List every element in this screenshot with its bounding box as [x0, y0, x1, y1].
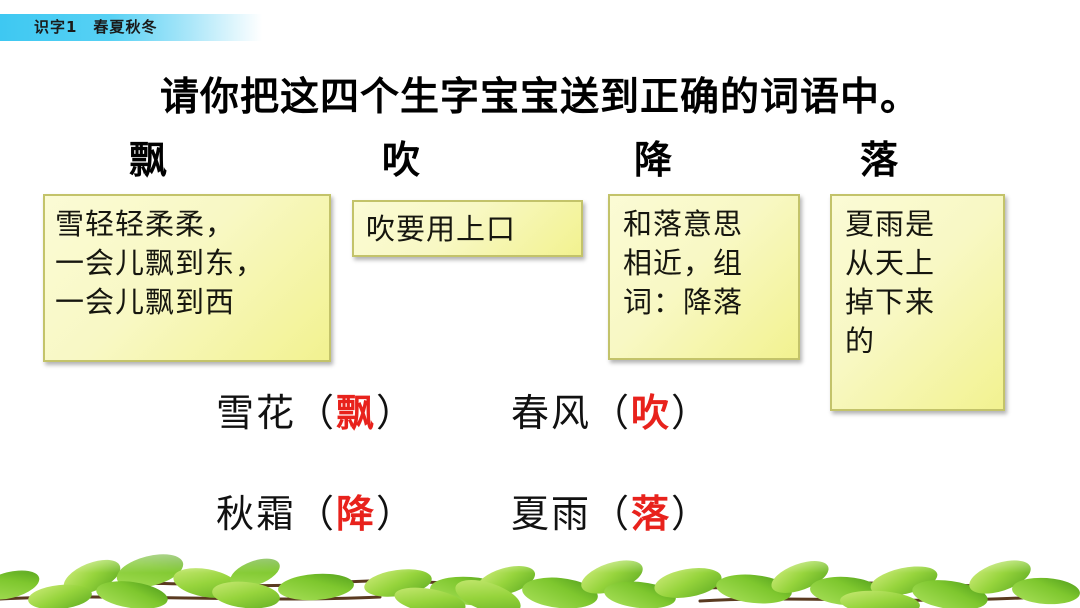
- answer-word: 夏雨: [511, 492, 591, 536]
- hint-box-luo: 夏雨是 从天上 掉下来 的: [830, 194, 1005, 411]
- answer-word: 雪花: [216, 391, 296, 435]
- answer-paren-open: （: [296, 391, 336, 435]
- answer-paren-open: （: [296, 492, 336, 536]
- hint-line: 从天上: [845, 244, 1003, 283]
- hint-line: 一会儿飘到东，: [55, 244, 329, 283]
- answer-paren-open: （: [591, 492, 631, 536]
- answer-paren-close: ）: [376, 391, 416, 435]
- answer-paren-open: （: [591, 391, 631, 435]
- answer-item-chunfeng: 春风（吹）: [511, 382, 711, 437]
- answer-blank-filled[interactable]: 落: [631, 491, 671, 536]
- hint-line: 的: [845, 322, 1003, 361]
- answer-blank-filled[interactable]: 降: [336, 491, 376, 536]
- answer-item-qiushuang: 秋霜（降）: [216, 483, 416, 538]
- answer-paren-close: ）: [671, 391, 711, 435]
- leaves-decoration: [0, 533, 1080, 608]
- answer-word: 秋霜: [216, 492, 296, 536]
- target-character-jiang[interactable]: 降: [634, 141, 672, 179]
- answer-blank-filled[interactable]: 吹: [631, 390, 671, 435]
- answer-paren-close: ）: [376, 492, 416, 536]
- hint-line: 和落意思: [623, 205, 798, 244]
- answer-blank-filled[interactable]: 飘: [336, 390, 376, 435]
- hint-box-jiang: 和落意思 相近，组 词：降落: [608, 194, 800, 360]
- hint-line: 相近，组: [623, 244, 798, 283]
- page-title: 请你把这四个生字宝宝送到正确的词语中。: [0, 66, 1080, 122]
- hint-line: 词：降落: [623, 283, 798, 322]
- target-character-chui[interactable]: 吹: [382, 141, 420, 179]
- hint-line: 一会儿飘到西: [55, 283, 329, 322]
- answer-word: 春风: [511, 391, 591, 435]
- hint-line: 掉下来: [845, 283, 1003, 322]
- hint-line: 吹要用上口: [366, 210, 581, 249]
- answer-paren-close: ）: [671, 492, 711, 536]
- target-character-luo[interactable]: 落: [860, 141, 898, 179]
- target-character-piao[interactable]: 飘: [129, 141, 167, 179]
- hint-box-piao: 雪轻轻柔柔， 一会儿飘到东， 一会儿飘到西: [43, 194, 331, 362]
- lesson-banner-label: 识字1 春夏秋冬: [34, 16, 157, 37]
- answer-item-xiayu: 夏雨（落）: [511, 483, 711, 538]
- hint-line: 夏雨是: [845, 205, 1003, 244]
- hint-box-chui: 吹要用上口: [352, 200, 583, 257]
- hint-line: 雪轻轻柔柔，: [55, 205, 329, 244]
- answer-item-xuehua: 雪花（飘）: [216, 382, 416, 437]
